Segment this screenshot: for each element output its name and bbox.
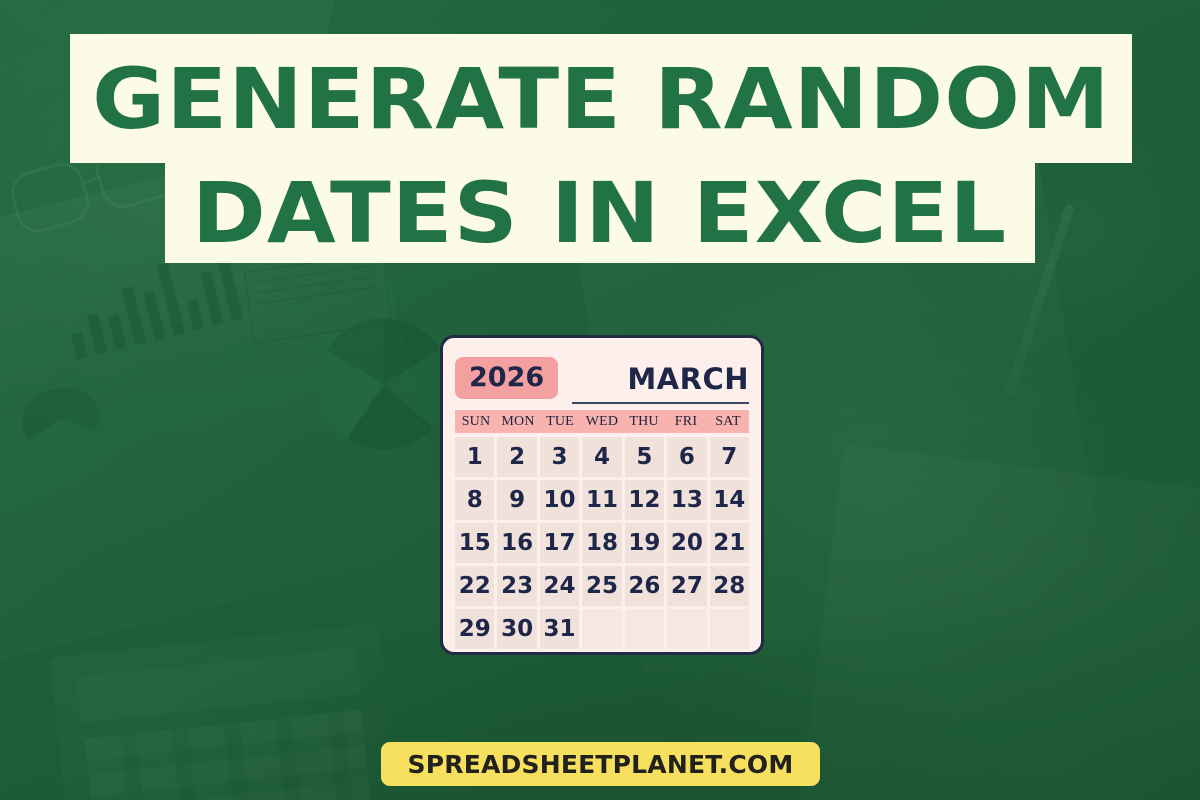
- calendar-day-cell[interactable]: 5: [625, 437, 664, 477]
- calendar-day-cell[interactable]: 18: [582, 523, 621, 563]
- calendar-weekday-header-row: SUNMONTUEWEDTHUFRISAT: [455, 410, 749, 433]
- calendar-weekday-mon: MON: [497, 414, 539, 430]
- calendar-day-cell-empty: [667, 609, 706, 649]
- calendar-day-cell[interactable]: 8: [455, 480, 494, 520]
- calendar-day-cell[interactable]: 10: [540, 480, 579, 520]
- calendar-weekday-thu: THU: [623, 414, 665, 430]
- title-line-2: DATES IN EXCEL: [165, 163, 1035, 263]
- calendar-day-cell[interactable]: 28: [710, 566, 749, 606]
- calendar-day-cell[interactable]: 24: [540, 566, 579, 606]
- calendar-day-cell[interactable]: 30: [497, 609, 536, 649]
- calendar-day-cell[interactable]: 9: [497, 480, 536, 520]
- calendar-day-cell[interactable]: 12: [625, 480, 664, 520]
- title-line-2-text: DATES IN EXCEL: [192, 171, 1007, 255]
- calendar-day-cell[interactable]: 16: [497, 523, 536, 563]
- footer-brand-label: SPREADSHEETPLANET.COM: [408, 750, 794, 779]
- calendar-day-cell[interactable]: 11: [582, 480, 621, 520]
- title-line-1-text: GENERATE RANDOM: [92, 57, 1110, 141]
- calendar-day-cell[interactable]: 25: [582, 566, 621, 606]
- calendar-day-cell[interactable]: 29: [455, 609, 494, 649]
- calendar-weekday-fri: FRI: [665, 414, 707, 430]
- calendar-day-cell[interactable]: 15: [455, 523, 494, 563]
- calendar-year-badge[interactable]: 2026: [455, 357, 558, 399]
- calendar-day-cell[interactable]: 13: [667, 480, 706, 520]
- footer-brand-pill[interactable]: SPREADSHEETPLANET.COM: [381, 742, 820, 786]
- calendar-day-cell-empty: [710, 609, 749, 649]
- calendar-month-block: MARCH: [572, 352, 749, 404]
- poster-canvas: GENERATE RANDOM DATES IN EXCEL 2026 MARC…: [0, 0, 1200, 800]
- calendar-day-cell[interactable]: 1: [455, 437, 494, 477]
- calendar-weekday-tue: TUE: [539, 414, 581, 430]
- calendar-day-cell[interactable]: 14: [710, 480, 749, 520]
- calendar-weekday-sat: SAT: [707, 414, 749, 430]
- calendar-day-cell[interactable]: 4: [582, 437, 621, 477]
- calendar-day-cell[interactable]: 21: [710, 523, 749, 563]
- calendar-month-divider: [572, 402, 749, 404]
- title-line-1: GENERATE RANDOM: [70, 34, 1132, 163]
- calendar-day-cell[interactable]: 2: [497, 437, 536, 477]
- calendar-day-cell-empty: [625, 609, 664, 649]
- calendar-day-cell[interactable]: 22: [455, 566, 494, 606]
- calendar-month-label[interactable]: MARCH: [572, 365, 749, 394]
- calendar-day-cell[interactable]: 7: [710, 437, 749, 477]
- calendar-day-cell[interactable]: 17: [540, 523, 579, 563]
- calendar-day-cell-empty: [582, 609, 621, 649]
- calendar-day-cell[interactable]: 6: [667, 437, 706, 477]
- calendar-day-cell[interactable]: 31: [540, 609, 579, 649]
- calendar-day-cell[interactable]: 20: [667, 523, 706, 563]
- calendar-days-grid: 1234567891011121314151617181920212223242…: [455, 437, 749, 649]
- calendar-header: 2026 MARCH: [455, 352, 749, 404]
- calendar-widget: 2026 MARCH SUNMONTUEWEDTHUFRISAT 1234567…: [440, 335, 764, 655]
- calendar-day-cell[interactable]: 3: [540, 437, 579, 477]
- calendar-day-cell[interactable]: 23: [497, 566, 536, 606]
- calendar-day-cell[interactable]: 19: [625, 523, 664, 563]
- calendar-weekday-wed: WED: [581, 414, 623, 430]
- calendar-day-cell[interactable]: 27: [667, 566, 706, 606]
- calendar-weekday-sun: SUN: [455, 414, 497, 430]
- calendar-day-cell[interactable]: 26: [625, 566, 664, 606]
